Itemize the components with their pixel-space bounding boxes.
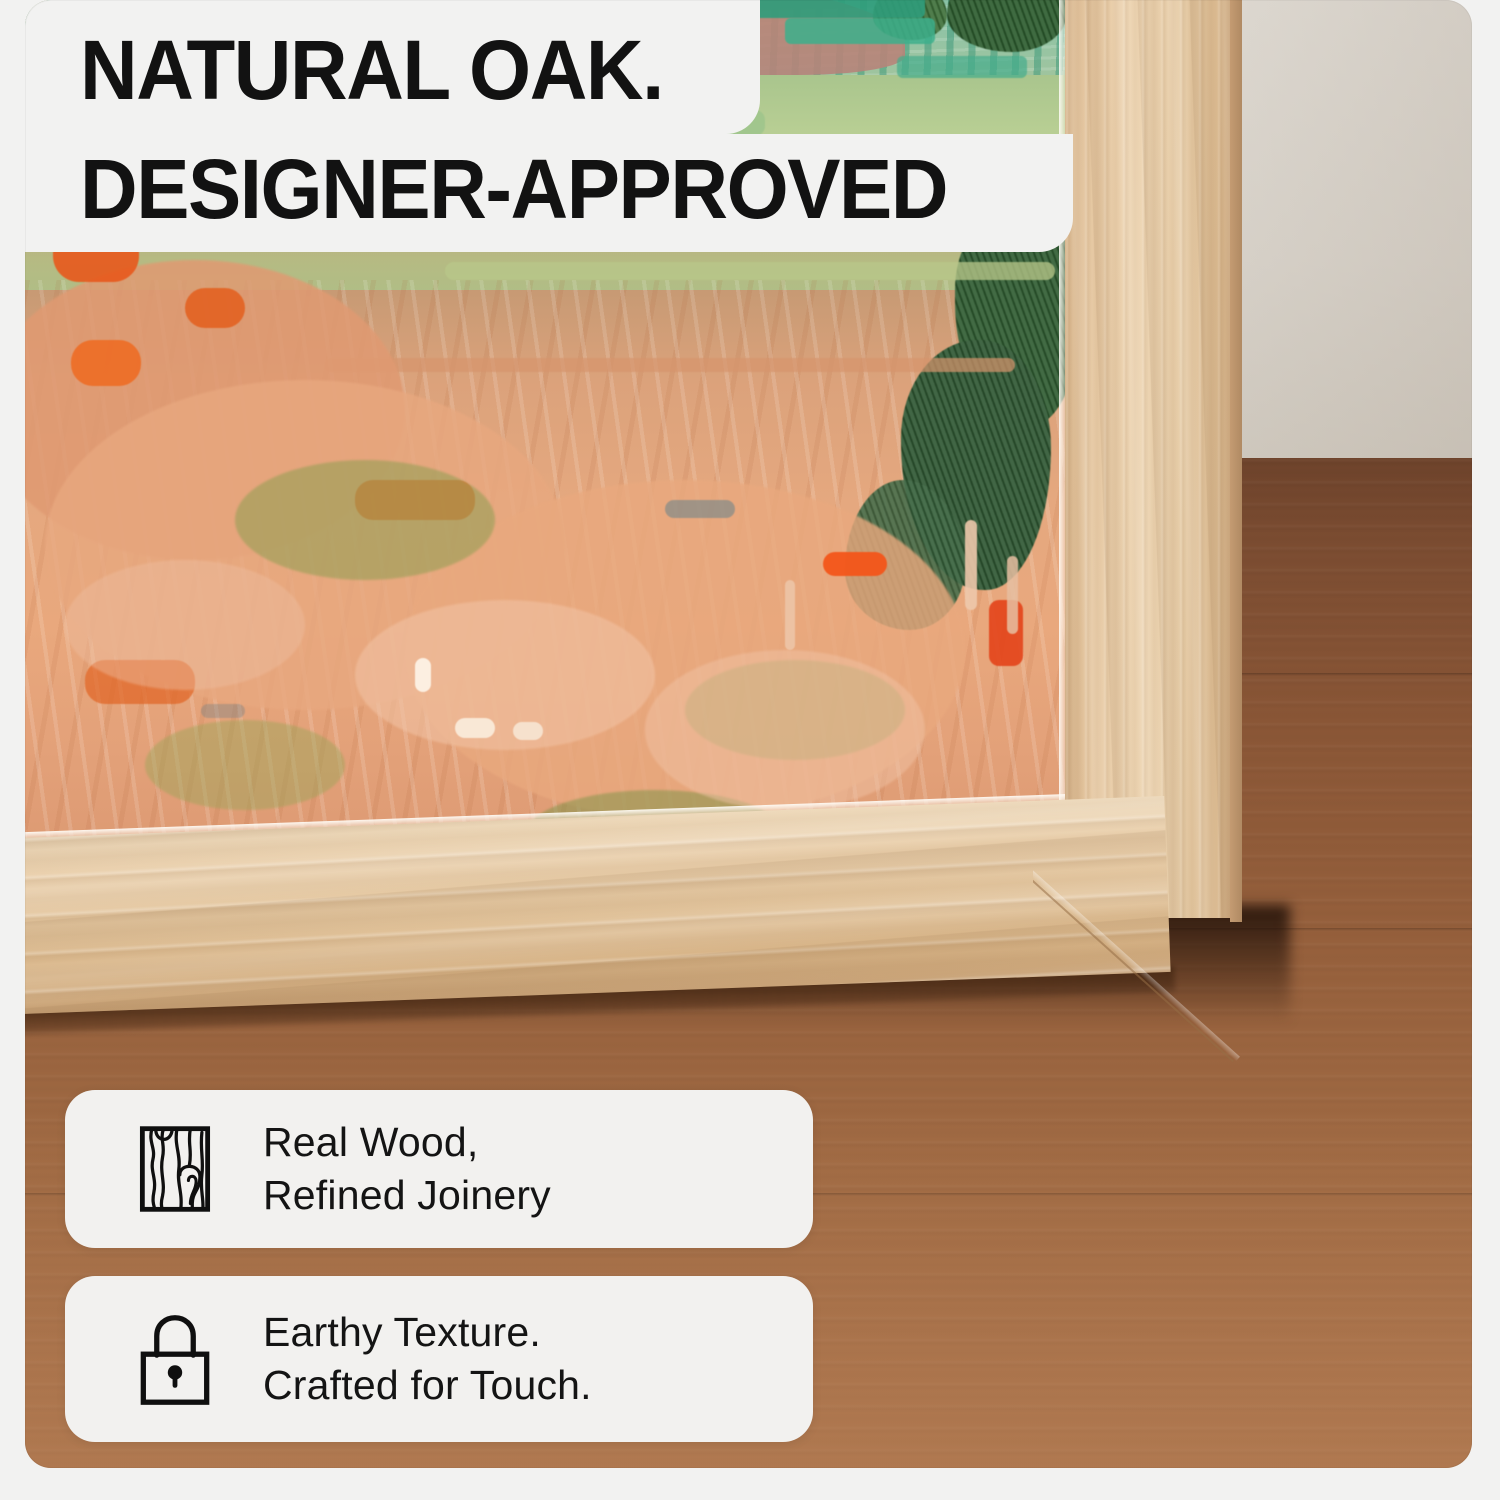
product-photo: NATURAL OAK. DESIGNER-APPROVED: [25, 0, 1472, 1468]
mitre-highlight: [1033, 856, 1240, 1061]
feature-badge-earthy-texture: Earthy Texture. Crafted for Touch.: [65, 1276, 813, 1442]
painting-blue-fleck: [665, 500, 735, 518]
painting-orange-accent: [185, 288, 245, 328]
painting-stroke: [785, 18, 935, 44]
painting-blue-fleck: [201, 704, 245, 718]
headline-line-2: DESIGNER-APPROVED: [80, 147, 947, 231]
painting-stroke: [325, 358, 1015, 372]
product-feature-page: NATURAL OAK. DESIGNER-APPROVED: [0, 0, 1500, 1500]
feature-text-line2: Crafted for Touch.: [263, 1359, 592, 1412]
frame-right-edge: [1230, 0, 1242, 922]
painting-orange-accent: [823, 552, 887, 576]
painting-olive-patch: [235, 460, 495, 580]
painting-stroke: [897, 56, 1027, 78]
feature-badge-text: Real Wood, Refined Joinery: [263, 1116, 551, 1222]
painting-highlight-fleck: [455, 718, 495, 738]
feature-badge-real-wood: Real Wood, Refined Joinery: [65, 1090, 813, 1248]
painting-highlight: [355, 600, 655, 750]
padlock-icon: [123, 1309, 227, 1409]
painting-grass-blade: [965, 520, 977, 610]
painting-grass-blade: [785, 580, 795, 650]
headline-panel-line1: NATURAL OAK.: [25, 0, 760, 134]
frame-mitre-joint: [1033, 822, 1283, 1072]
painting-olive-patch: [145, 720, 345, 810]
frame-right-stile: [1065, 0, 1240, 918]
painting-highlight-fleck: [513, 722, 543, 740]
headline-line-1: NATURAL OAK.: [80, 28, 663, 112]
feature-text-line2: Refined Joinery: [263, 1169, 551, 1222]
painting-stroke: [445, 262, 1055, 280]
feature-badge-text: Earthy Texture. Crafted for Touch.: [263, 1306, 592, 1412]
feature-text-line1: Earthy Texture.: [263, 1309, 541, 1355]
oak-grain-texture: [1065, 0, 1240, 918]
painting-highlight-fleck: [415, 658, 431, 692]
painting-orange-accent: [71, 340, 141, 386]
painting-highlight: [65, 560, 305, 690]
headline-panel-line2: DESIGNER-APPROVED: [25, 134, 1073, 252]
feature-text-line1: Real Wood,: [263, 1119, 478, 1165]
wood-grain-icon: [123, 1121, 227, 1217]
painting-highlight: [645, 650, 925, 810]
painting-grass-blade: [1007, 556, 1018, 634]
